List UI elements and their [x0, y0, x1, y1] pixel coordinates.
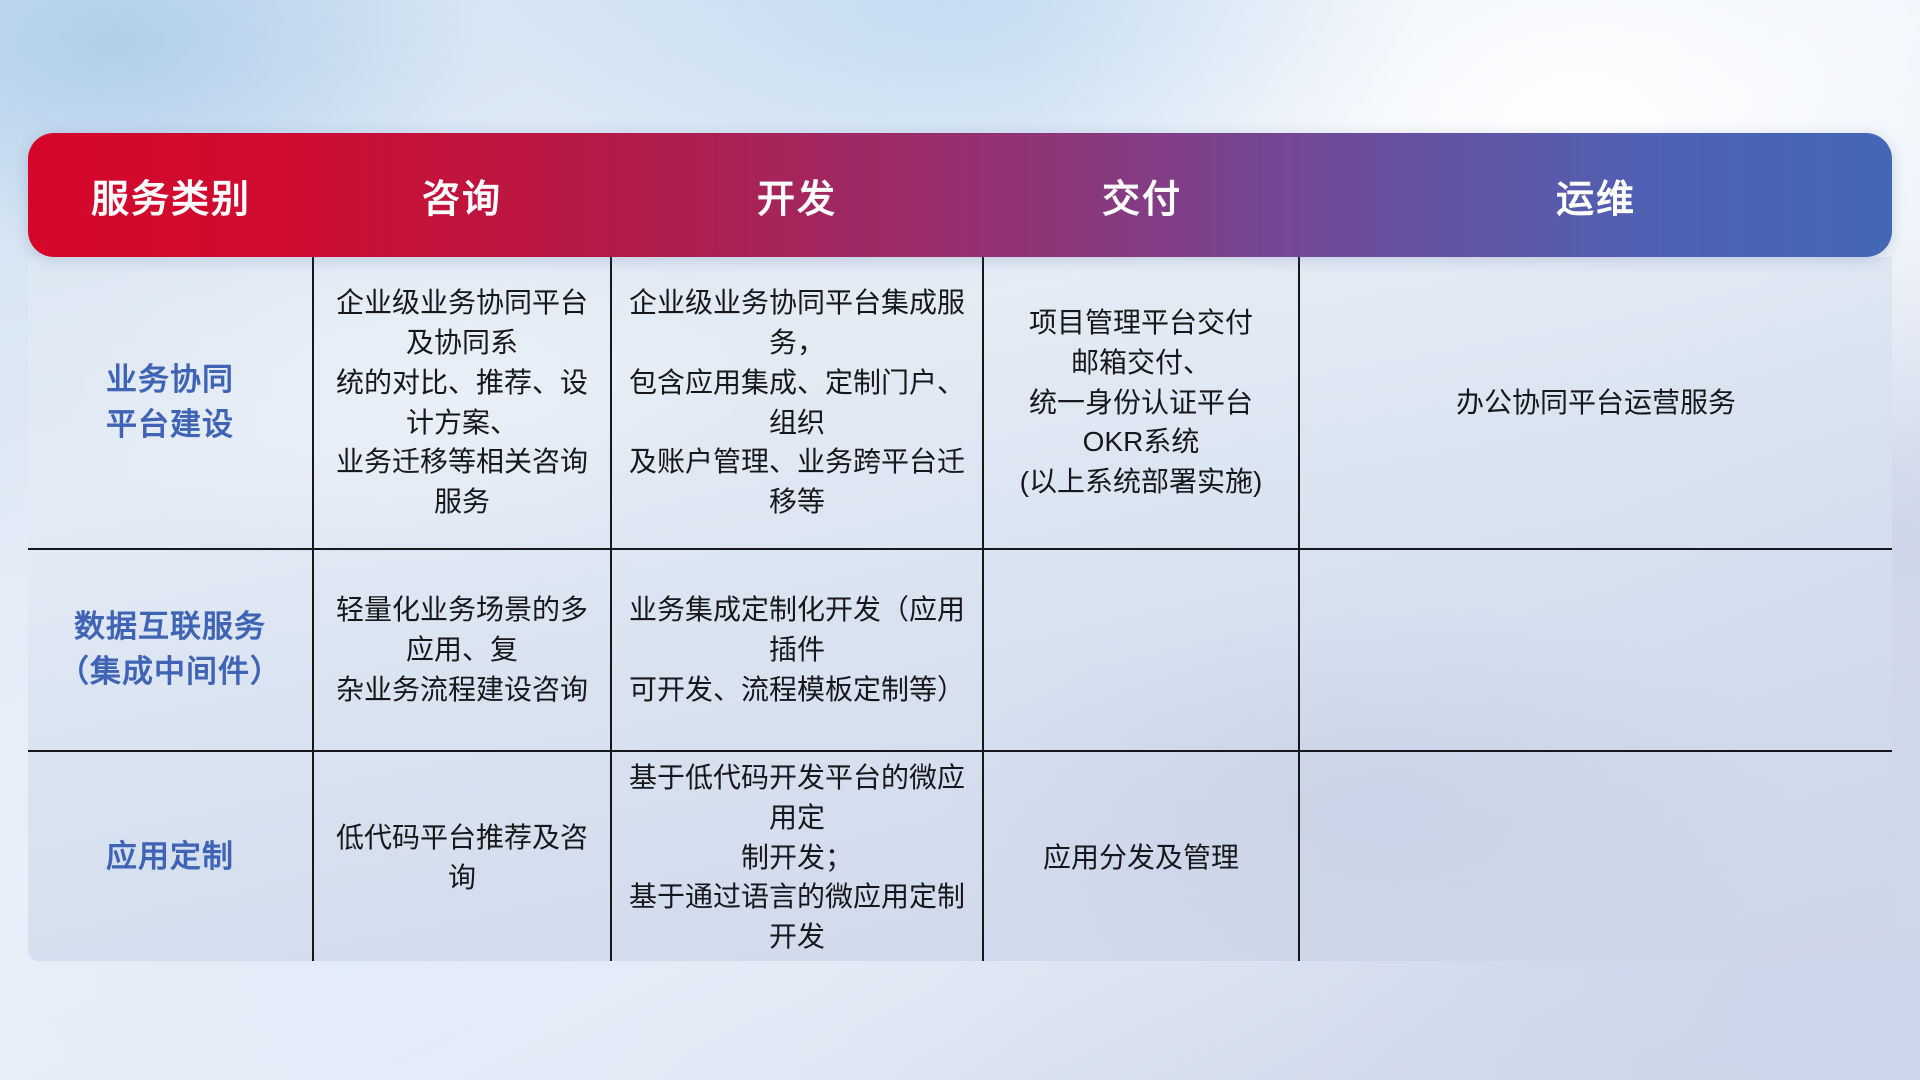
cell-development: 业务集成定制化开发（应用插件 可开发、流程模板定制等）	[610, 550, 984, 750]
cell-delivery: 应用分发及管理	[984, 752, 1300, 961]
cell-development: 基于低代码开发平台的微应用定 制开发； 基于通过语言的微应用定制开发	[610, 752, 984, 961]
slide-canvas: 服务类别 咨询 开发 交付 运维 业务协同 平台建设 企业级业务协同平台及协同系…	[0, 0, 1920, 1080]
cell-delivery: 项目管理平台交付 邮箱交付、 统一身份认证平台 OKR系统 (以上系统部署实施)	[984, 257, 1300, 548]
cell-consulting: 轻量化业务场景的多应用、复 杂业务流程建设咨询	[314, 550, 610, 750]
cell-consulting: 低代码平台推荐及咨询	[314, 752, 610, 961]
table-header-row: 服务类别 咨询 开发 交付 运维	[28, 133, 1892, 257]
row-category-label: 数据互联服务 （集成中间件）	[28, 550, 314, 750]
table-row: 数据互联服务 （集成中间件） 轻量化业务场景的多应用、复 杂业务流程建设咨询 业…	[28, 548, 1892, 750]
table-body: 业务协同 平台建设 企业级业务协同平台及协同系 统的对比、推荐、设计方案、 业务…	[28, 257, 1892, 961]
cell-operations: 办公协同平台运营服务	[1300, 257, 1892, 548]
column-header-consulting: 咨询	[314, 168, 610, 223]
column-header-operations: 运维	[1300, 168, 1892, 223]
table-row: 应用定制 低代码平台推荐及咨询 基于低代码开发平台的微应用定 制开发； 基于通过…	[28, 750, 1892, 961]
cell-development: 企业级业务协同平台集成服务， 包含应用集成、定制门户、组织 及账户管理、业务跨平…	[610, 257, 984, 548]
cell-operations	[1300, 550, 1892, 750]
cell-consulting: 企业级业务协同平台及协同系 统的对比、推荐、设计方案、 业务迁移等相关咨询服务	[314, 257, 610, 548]
column-header-service-category: 服务类别	[28, 168, 314, 223]
row-category-label: 应用定制	[28, 752, 314, 961]
column-header-delivery: 交付	[984, 168, 1300, 223]
cell-operations	[1300, 752, 1892, 961]
cell-delivery	[984, 550, 1300, 750]
row-category-label: 业务协同 平台建设	[28, 257, 314, 548]
column-header-development: 开发	[610, 168, 984, 223]
table-row: 业务协同 平台建设 企业级业务协同平台及协同系 统的对比、推荐、设计方案、 业务…	[28, 257, 1892, 548]
service-matrix-table: 服务类别 咨询 开发 交付 运维 业务协同 平台建设 企业级业务协同平台及协同系…	[28, 133, 1892, 961]
